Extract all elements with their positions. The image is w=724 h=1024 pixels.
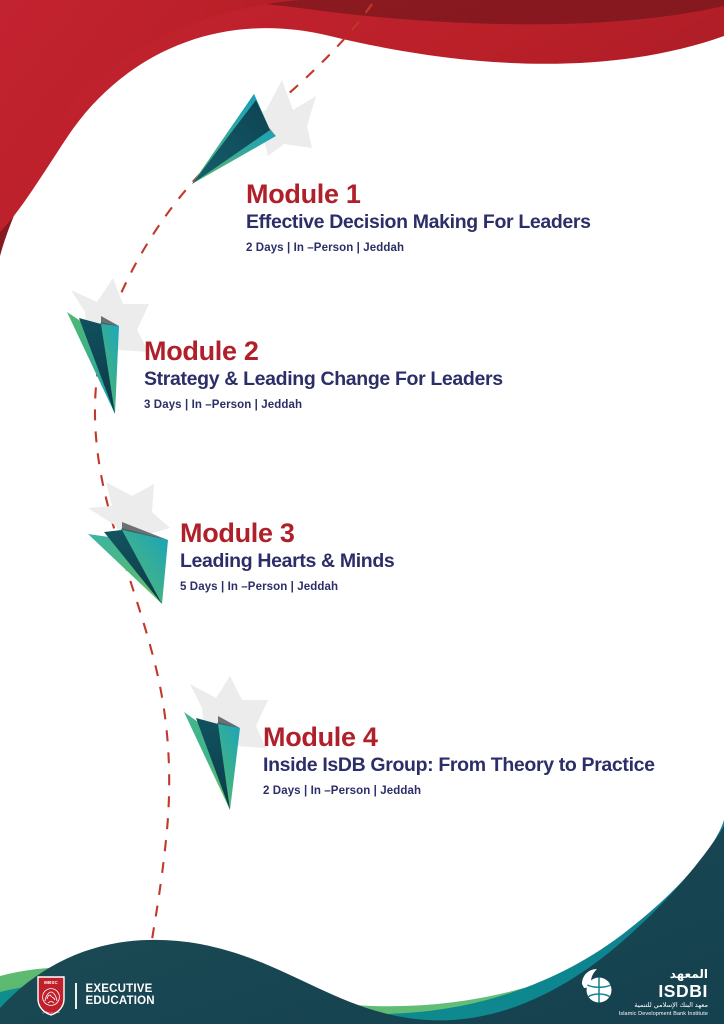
mbsc-shield-icon: MBSC محمد بن سلمان — [36, 975, 66, 1017]
isdbi-english-subtitle: Islamic Development Bank Institute — [619, 1011, 708, 1018]
module-meta: 2 Days | In –Person | Jeddah — [246, 241, 591, 256]
executive-education-wordmark: EXECUTIVE EDUCATION — [86, 984, 155, 1008]
isdbi-arabic-title: المعهد — [619, 968, 708, 981]
module-text-block: Module 1 Effective Decision Making For L… — [246, 180, 591, 255]
isdbi-wordmark: المعهد ISDBI معهد البنك الإسلامي للتنمية… — [619, 968, 708, 1018]
isdbi-latin-title: ISDBI — [619, 982, 708, 1000]
module-subtitle: Effective Decision Making For Leaders — [246, 211, 591, 234]
module-meta: 2 Days | In –Person | Jeddah — [263, 784, 655, 799]
module-subtitle: Strategy & Leading Change For Leaders — [144, 368, 503, 391]
module-subtitle: Inside IsDB Group: From Theory to Practi… — [263, 754, 655, 777]
module-title: Module 1 — [246, 180, 591, 209]
module-title: Module 3 — [180, 519, 394, 548]
module-title: Module 4 — [263, 723, 655, 752]
isdbi-logo: المعهد ISDBI معهد البنك الإسلامي للتنمية… — [579, 968, 708, 1018]
module-subtitle: Leading Hearts & Minds — [180, 550, 394, 573]
module-text-block: Module 4 Inside IsDB Group: From Theory … — [263, 723, 655, 798]
logo-divider — [75, 983, 77, 1009]
isdbi-arabic-subtitle: معهد البنك الإسلامي للتنمية — [619, 1002, 708, 1010]
module-title: Module 2 — [144, 337, 503, 366]
module-meta: 3 Days | In –Person | Jeddah — [144, 398, 503, 413]
module-text-block: Module 2 Strategy & Leading Change For L… — [144, 337, 503, 412]
mbsc-executive-education-logo: MBSC محمد بن سلمان EXECUTIVE EDUCATION — [36, 975, 155, 1017]
exec-line-2: EDUCATION — [86, 996, 155, 1008]
paper-plane-icon — [186, 74, 316, 190]
svg-text:MBSC: MBSC — [44, 980, 58, 985]
isdbi-globe-icon — [579, 968, 613, 1008]
module-text-block: Module 3 Leading Hearts & Minds 5 Days |… — [180, 519, 394, 594]
poster-canvas: Module 1 Effective Decision Making For L… — [0, 0, 724, 1024]
mbsc-shield-caption: محمد بن سلمان — [36, 1011, 66, 1014]
module-meta: 5 Days | In –Person | Jeddah — [180, 580, 394, 595]
